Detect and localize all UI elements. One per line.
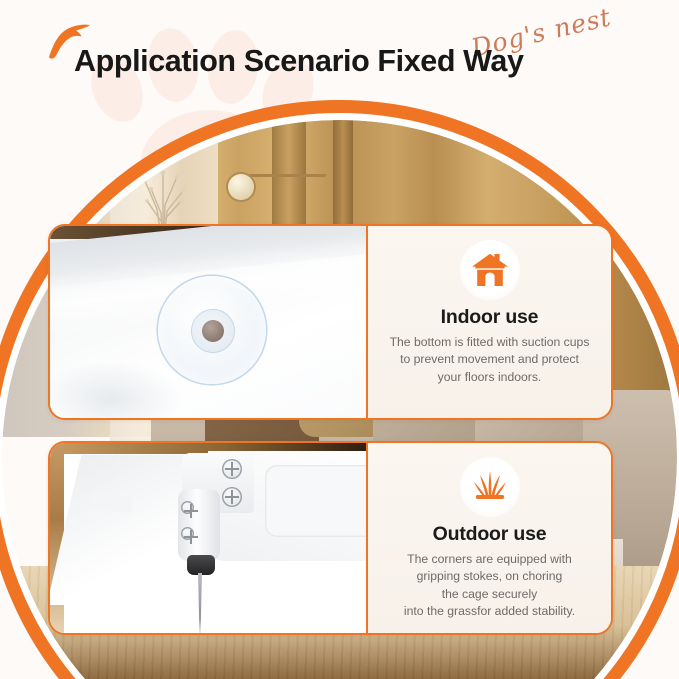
card-indoor-description: The bottom is fitted with suction cups t… — [378, 334, 602, 386]
page-title: Application Scenario Fixed Way — [74, 44, 524, 79]
ground-stake-photo — [50, 443, 368, 633]
house-icon — [471, 252, 509, 288]
house-icon-badge — [460, 240, 520, 300]
card-outdoor-description: The corners are equipped with gripping s… — [392, 551, 587, 620]
card-indoor-title: Indoor use — [441, 306, 539, 329]
card-indoor-body: Indoor use The bottom is fitted with suc… — [368, 226, 611, 418]
card-outdoor-title: Outdoor use — [433, 523, 547, 546]
card-outdoor-body: Outdoor use The corners are equipped wit… — [368, 443, 611, 633]
grass-icon-badge — [460, 457, 520, 517]
infographic-stage: Dog's nest Application Scenario Fixed Wa… — [0, 0, 679, 679]
grass-icon — [471, 470, 509, 504]
card-indoor[interactable]: Indoor use The bottom is fitted with suc… — [48, 224, 613, 420]
suction-cup-photo — [50, 226, 368, 418]
card-outdoor[interactable]: Outdoor use The corners are equipped wit… — [48, 441, 613, 635]
